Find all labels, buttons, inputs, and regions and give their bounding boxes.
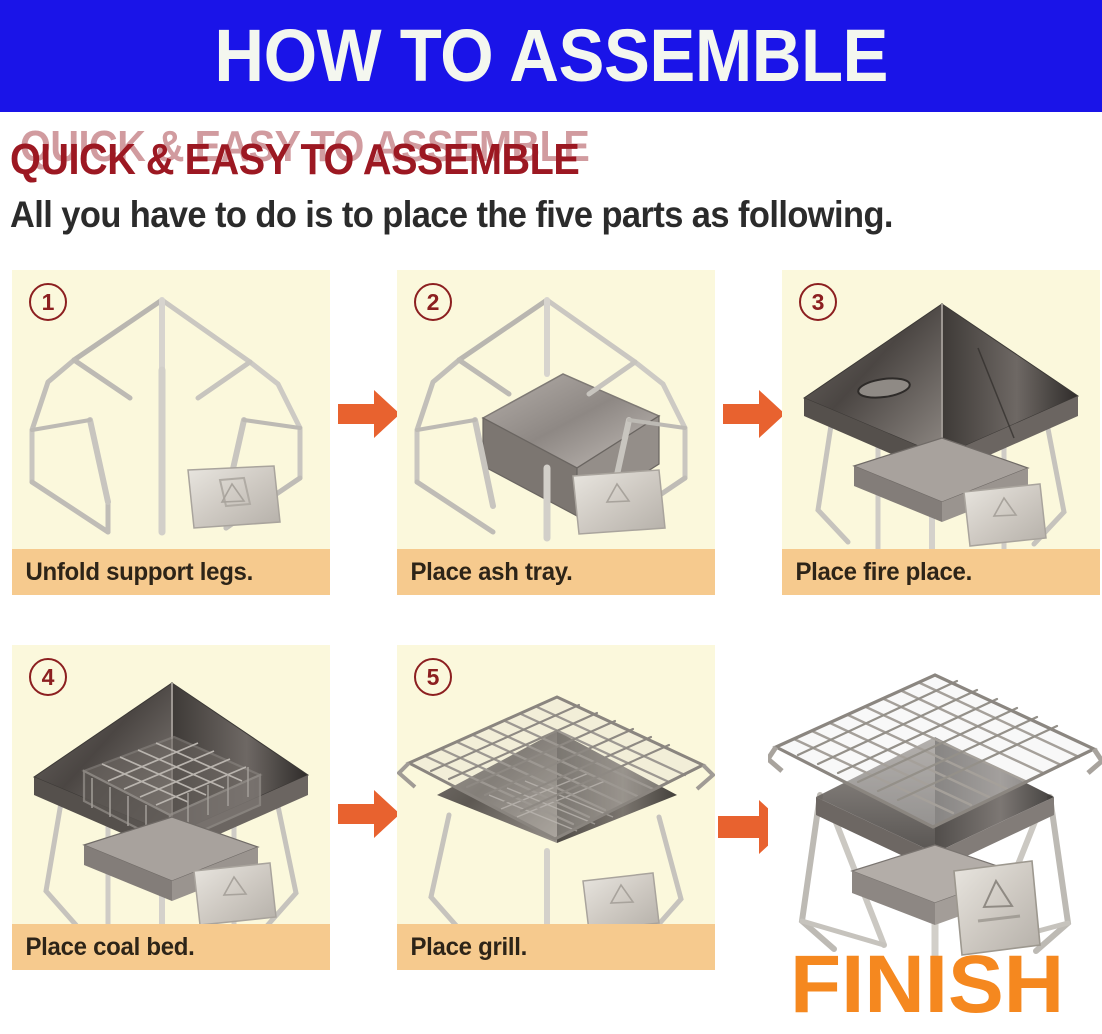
- step-2-illustration: [397, 270, 715, 595]
- step-caption-1: Unfold support legs.: [12, 560, 253, 585]
- step-number-badge-1: 1: [29, 283, 67, 321]
- step-caption-2: Place ash tray.: [397, 560, 572, 585]
- step-panel-1: 1 Unfold support legs.: [12, 270, 330, 595]
- arrow-step4-to-step5: [338, 788, 400, 840]
- brand-plate: [188, 466, 280, 528]
- step-panel-3: 3 Place fire place.: [782, 270, 1100, 595]
- step-1-illustration: [12, 270, 330, 595]
- step-number-badge-5: 5: [414, 658, 452, 696]
- brand-plate: [573, 470, 665, 534]
- lede-text: All you have to do is to place the five …: [10, 196, 893, 233]
- step-panel-2: 2 Place ash tray.: [397, 270, 715, 595]
- step-number-badge-2: 2: [414, 283, 452, 321]
- step-caption-5: Place grill.: [397, 935, 527, 960]
- subhead-title: QUICK & EASY TO ASSEMBLE: [10, 138, 579, 182]
- step-caption-bar-4: Place coal bed.: [12, 924, 330, 970]
- step-caption-bar-1: Unfold support legs.: [12, 549, 330, 595]
- step-caption-4: Place coal bed.: [12, 935, 195, 960]
- brand-plate: [194, 863, 276, 925]
- finish-label: FINISH: [790, 944, 1064, 1026]
- step-3-illustration: [782, 270, 1100, 595]
- step-panel-5: 5 Place grill.: [397, 645, 715, 970]
- page-title: HOW TO ASSEMBLE: [214, 19, 888, 93]
- step-panel-4: 4 Place coal bed.: [12, 645, 330, 970]
- step-caption-bar-2: Place ash tray.: [397, 549, 715, 595]
- step-caption-bar-5: Place grill.: [397, 924, 715, 970]
- step-caption-3: Place fire place.: [782, 560, 972, 585]
- step-5-illustration: [397, 645, 715, 970]
- step-number-badge-3: 3: [799, 283, 837, 321]
- brand-plate: [583, 873, 659, 931]
- step-4-illustration: [12, 645, 330, 970]
- arrow-step2-to-step3: [723, 388, 785, 440]
- brand-plate: [964, 484, 1046, 546]
- arrow-step1-to-step2: [338, 388, 400, 440]
- finish-panel: FINISH: [768, 645, 1102, 1034]
- infographic-page: HOW TO ASSEMBLE QUICK & EASY TO ASSEMBLE…: [0, 0, 1102, 1034]
- step-number-badge-4: 4: [29, 658, 67, 696]
- step-caption-bar-3: Place fire place.: [782, 549, 1100, 595]
- header-banner: HOW TO ASSEMBLE: [0, 0, 1102, 112]
- subhead-block: QUICK & EASY TO ASSEMBLE QUICK & EASY TO…: [0, 118, 1102, 180]
